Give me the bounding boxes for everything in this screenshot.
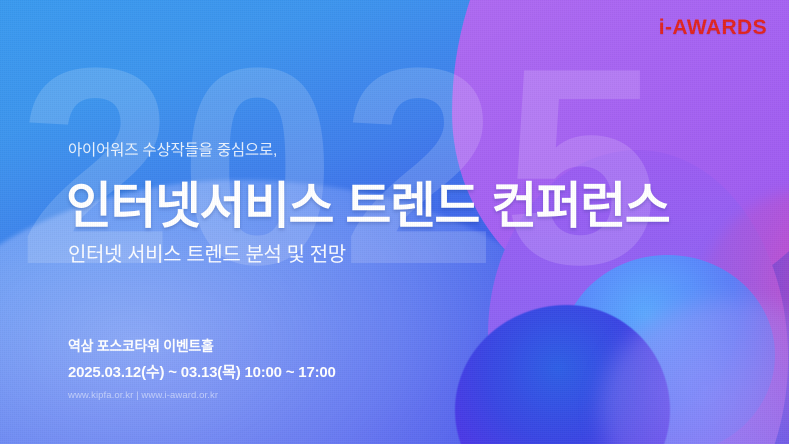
venue-text: 역삼 포스코타워 이벤트홀 xyxy=(68,336,214,356)
i-awards-logo: i-AWARDS xyxy=(659,16,767,40)
eyebrow-text: 아이어워즈 수상작들을 중심으로, xyxy=(68,138,277,160)
page-title: 인터넷서비스 트렌드 컨퍼런스 xyxy=(66,166,669,238)
subtitle-text: 인터넷 서비스 트렌드 분석 및 전망 xyxy=(68,238,346,267)
website-urls[interactable]: www.kipfa.or.kr | www.i-award.or.kr xyxy=(68,390,218,401)
conference-banner: 2025 i-AWARDS 아이어워즈 수상작들을 중심으로, 인터넷서비스 트… xyxy=(0,0,789,444)
datetime-text: 2025.03.12(수) ~ 03.13(목) 10:00 ~ 17:00 xyxy=(68,361,336,382)
